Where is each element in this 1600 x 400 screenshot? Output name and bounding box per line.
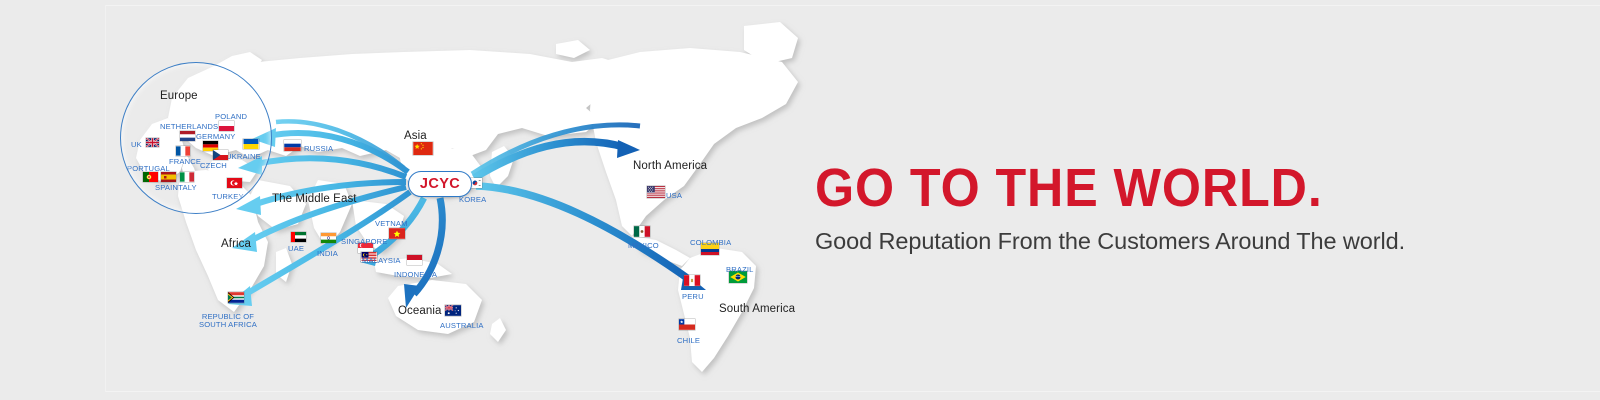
flag-vietnam-icon: [389, 228, 405, 239]
flag-australia-icon: [445, 305, 461, 316]
subheadline: Good Reputation From the Customers Aroun…: [815, 227, 1405, 255]
jcyc-hub-badge[interactable]: JCYC: [408, 171, 472, 197]
headline: GO TO THE WORLD.: [815, 160, 1364, 216]
country-label-india: INDIA: [317, 250, 338, 258]
flag-russia-icon: [284, 140, 301, 151]
flag-uae-icon: [291, 232, 306, 242]
country-label-australia: AUSTRALIA: [440, 322, 484, 330]
region-label-the-middle-east: The Middle East: [272, 193, 357, 205]
country-label-vietnam: VETNAM: [375, 220, 408, 228]
region-label-oceania: Oceania: [398, 305, 442, 317]
go-to-the-world-banner: JCYC EuropeAsiaThe Middle EastAfricaNort…: [0, 0, 1600, 400]
flag-indonesia-icon: [407, 255, 422, 265]
country-label-peru: PERU: [682, 293, 704, 301]
flag-south-africa-icon: [228, 292, 244, 303]
flag-india-icon: [321, 233, 336, 243]
country-label-colombia: COLOMBIA: [690, 239, 731, 247]
flag-chile-icon: [679, 319, 695, 330]
flag-mexico-icon: [634, 226, 650, 237]
country-label-uae: UAE: [288, 245, 304, 253]
banner-copy: GO TO THE WORLD. Good Reputation From th…: [815, 160, 1405, 255]
europe-magnifier-circle: [120, 62, 272, 214]
country-label-usa: USA: [666, 192, 682, 200]
region-label-asia: Asia: [404, 130, 427, 142]
region-label-africa: Africa: [221, 238, 251, 250]
flag-usa-icon: [647, 186, 665, 198]
country-label-mexico: MEXICO: [628, 242, 659, 250]
region-label-north-america: North America: [633, 160, 707, 172]
country-label-brazil: BRAZIL: [726, 266, 754, 274]
country-label-chile: CHILE: [677, 337, 700, 345]
country-label-russia: RUSSIA: [304, 145, 333, 153]
country-label-south-africa: REPUBLIC OFSOUTH AFRICA: [199, 313, 257, 330]
country-label-korea: KOREA: [459, 196, 486, 204]
country-label-malaysia: MALAYSIA: [362, 257, 401, 265]
country-label-singapore: SINGAPORE: [341, 238, 388, 246]
flag-peru-icon: [684, 275, 700, 286]
region-label-south-america: South America: [719, 303, 795, 315]
country-label-indonesia: INDONESIA: [394, 271, 437, 279]
flag-china-icon: [413, 142, 433, 155]
